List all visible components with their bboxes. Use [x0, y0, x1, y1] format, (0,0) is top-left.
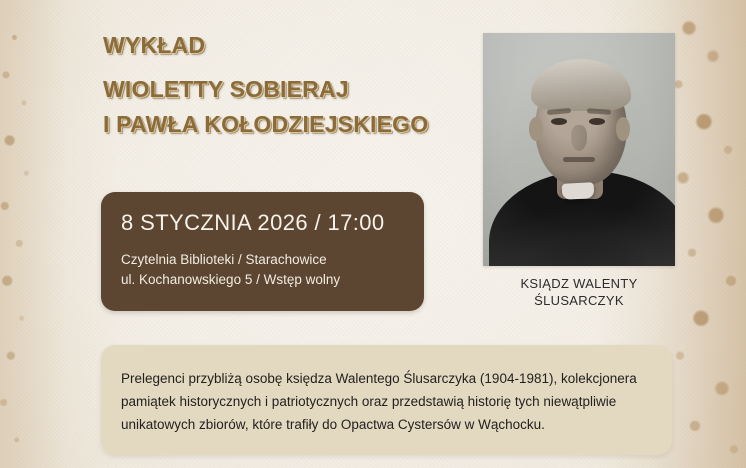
venue-line-2: ul. Kochanowskiego 5 / Wstęp wolny [121, 270, 340, 290]
portrait-caption: KSIĄDZ WALENTY ŚLUSARCZYK [483, 275, 675, 309]
event-details-card: 8 STYCZNIA 2026 / 17:00 Czytelnia Biblio… [101, 192, 424, 311]
event-date-time: 8 STYCZNIA 2026 / 17:00 [121, 210, 385, 236]
headline-line-3: I PAWŁA KOŁODZIEJSKIEGO [103, 107, 473, 142]
caption-line-1: KSIĄDZ WALENTY [483, 275, 675, 292]
portrait-photo [483, 33, 675, 266]
headline-line-2: WIOLETTY SOBIERAJ [103, 72, 473, 107]
headline-line-1: WYKŁAD [103, 28, 473, 63]
description-text: Prelegenci przybliżą osobę księdza Walen… [121, 367, 654, 436]
venue-line-1: Czytelnia Biblioteki / Starachowice [121, 250, 340, 270]
portrait-block: KSIĄDZ WALENTY ŚLUSARCZYK [483, 33, 675, 309]
photo-vignette [483, 33, 675, 266]
caption-line-2: ŚLUSARCZYK [483, 292, 675, 309]
event-venue: Czytelnia Biblioteki / Starachowice ul. … [121, 250, 340, 290]
event-poster: WYKŁAD WIOLETTY SOBIERAJ I PAWŁA KOŁODZI… [0, 0, 746, 468]
description-card: Prelegenci przybliżą osobę księdza Walen… [101, 345, 672, 455]
poster-headline: WYKŁAD WIOLETTY SOBIERAJ I PAWŁA KOŁODZI… [103, 28, 473, 142]
